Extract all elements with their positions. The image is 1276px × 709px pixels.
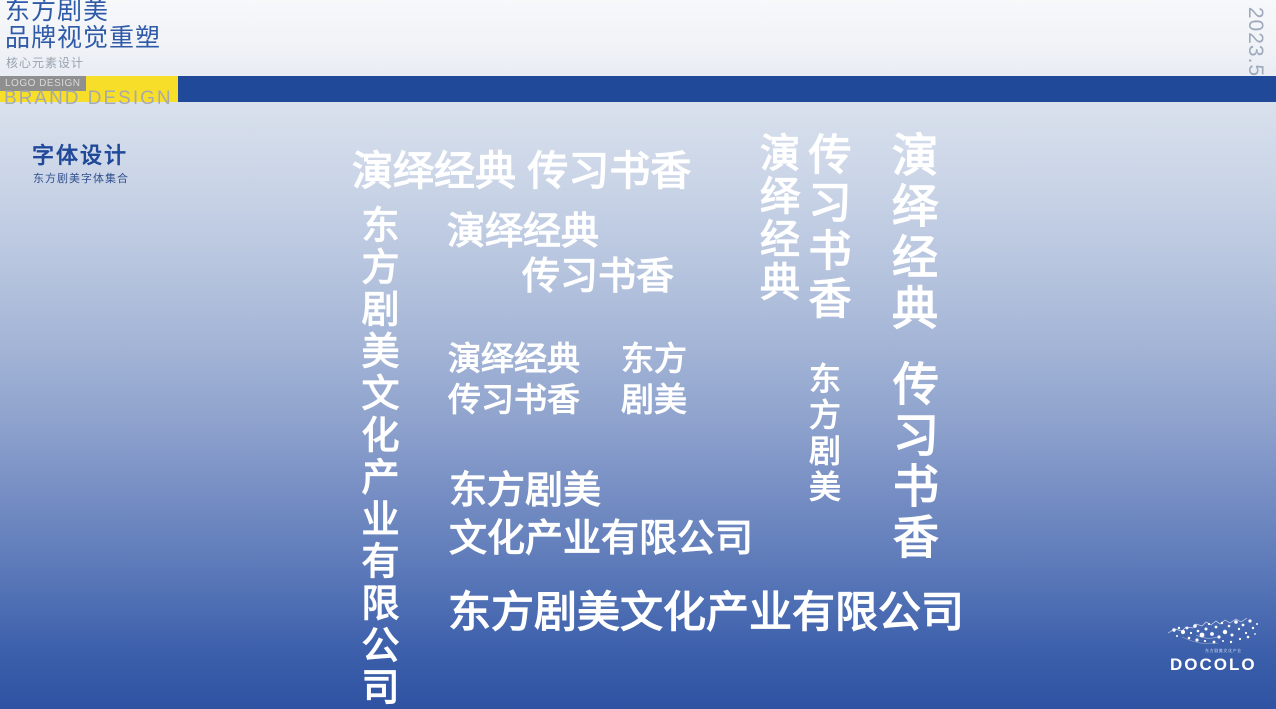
specimen-company-vertical: 东方剧美文化产业有限公司 [349, 205, 404, 709]
specimen-slogan-stacked: 演绎经典 传习书香 [448, 338, 580, 420]
section-subtitle: 东方剧美字体集合 [33, 170, 129, 186]
header-color-band: LOGO DESIGN [0, 76, 1276, 102]
specimen-slogan-vertical-large-1: 演绎经典 [879, 131, 945, 335]
brand-design-label: BRAND DESIGN [4, 88, 173, 110]
specimen-slogan-line2: 传习书香 [522, 245, 674, 300]
specimen-headline-pair: 演绎经典 传习书香 [352, 137, 691, 197]
slide-header: 东方剧美 品牌视觉重塑 核心元素设计 2023.5 [0, 0, 1276, 76]
specimen-brand-short-stacked: 东方 剧美 [621, 338, 687, 420]
docolo-logo: 东方剧美文化产业 DOCOLO [1162, 615, 1264, 677]
logo-tagline: 东方剧美文化产业 [1205, 648, 1242, 654]
logo-wordmark: DOCOLO [1170, 655, 1257, 675]
section-title: 字体设计 [32, 138, 128, 170]
presentation-date: 2023.5 [1243, 7, 1267, 77]
slide-canvas: 东方剧美 品牌视觉重塑 核心元素设计 2023.5 LOGO DESIGN BR… [0, 0, 1276, 709]
specimen-brand-vertical-short: 东方剧美 [800, 362, 846, 506]
specimen-company-stacked: 东方剧美 文化产业有限公司 [449, 467, 753, 563]
presentation-subtitle: 核心元素设计 [6, 54, 84, 71]
band-blue-block [178, 76, 1276, 102]
presentation-title: 东方剧美 品牌视觉重塑 [5, 0, 161, 52]
specimen-slogan-vertical-2: 传习书香 [795, 132, 857, 324]
specimen-slogan-vertical-large-2: 传习书香 [880, 360, 946, 564]
specimen-company-full-line: 东方剧美文化产业有限公司 [448, 578, 964, 640]
